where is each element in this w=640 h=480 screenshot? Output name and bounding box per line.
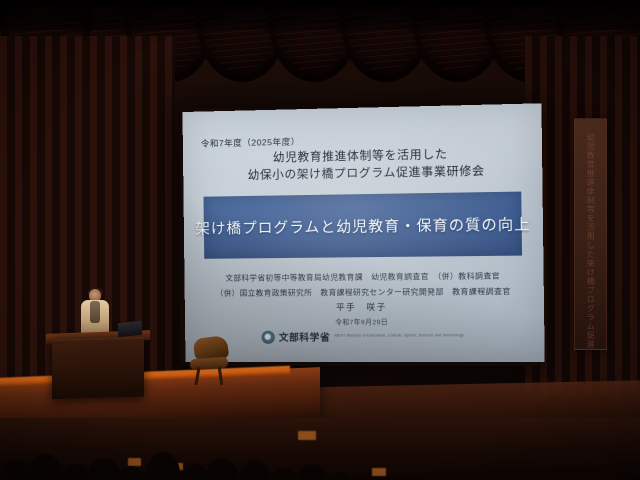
credit-line-affiliation-2: （併）国立教育政策研究所 教育課程研究センター研究開発部 教育課程調査官	[203, 284, 525, 301]
slide-highlight-banner: 架け橋プログラムと幼児教育・保育の質の向上	[203, 192, 522, 259]
chair-leg	[218, 367, 223, 385]
auditorium-floor	[0, 418, 640, 480]
laptop-icon	[118, 321, 142, 337]
mext-logo-subtext: MEXT Ministry of Education, Culture, Spo…	[334, 334, 463, 340]
vertical-banner-text: 幼児教育推進体制等を活用した架け橋プログラム促進事業	[585, 133, 597, 349]
auditorium-scene: 幼児教育推進体制等を活用した架け橋プログラム促進事業 令和7年度（2025年度）…	[0, 0, 640, 480]
chair-seat	[190, 357, 229, 371]
lectern	[52, 337, 144, 400]
curtain-top-shadow	[0, 0, 640, 30]
slide-credits-block: 文部科学省初等中等教育局幼児教育課 幼児教育調査官 （併）教科調査官 （併）国立…	[202, 269, 525, 344]
mext-emblem-icon	[261, 330, 274, 343]
vertical-hanging-banner: 幼児教育推進体制等を活用した架け橋プログラム促進事業	[574, 118, 607, 350]
slide-date: 令和7年9月29日	[203, 316, 525, 327]
projection-screen: 令和7年度（2025年度） 幼児教育推進体制等を活用した 幼保小の架け橋プログラ…	[182, 103, 544, 362]
mext-logo: 文部科学省 MEXT Ministry of Education, Cultur…	[203, 329, 525, 344]
mext-logo-name: 文部科学省	[279, 330, 331, 344]
presenter-figure	[78, 289, 112, 337]
presenter-name: 平手 咲子	[203, 300, 525, 314]
slide-header-block: 令和7年度（2025年度） 幼児教育推進体制等を活用した 幼保小の架け橋プログラ…	[201, 131, 523, 185]
slide-banner-text: 架け橋プログラムと幼児教育・保育の質の向上	[195, 213, 531, 239]
stage-chair	[188, 337, 232, 387]
presenter-scarf	[90, 301, 100, 323]
